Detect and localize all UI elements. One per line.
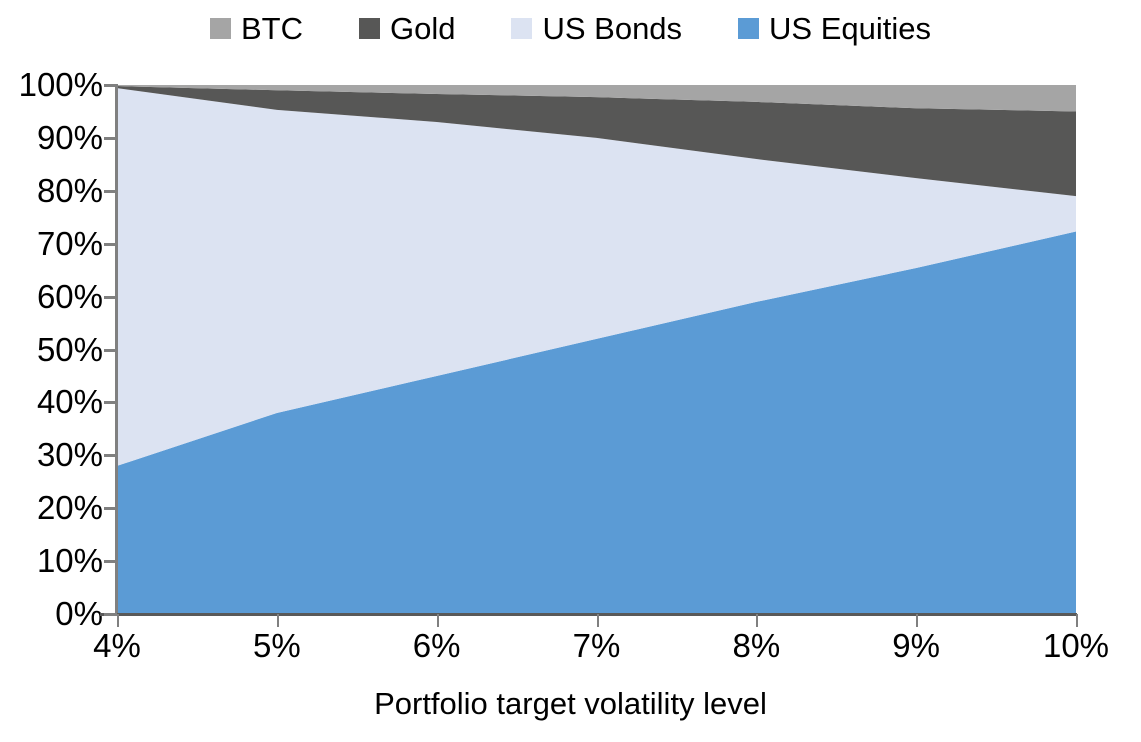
y-tick-mark [104,190,117,193]
x-tick-mark [597,614,599,627]
stacked-area-chart: BTC Gold US Bonds US Equities 100%90%80%… [0,0,1141,742]
legend-swatch-us-equities [738,18,759,39]
legend-swatch-gold [359,18,380,39]
y-tick-mark [104,454,117,457]
x-axis-line [100,613,1077,616]
legend-label-us-equities: US Equities [769,13,931,44]
x-tick-mark [756,614,758,627]
x-tick-mark [437,614,439,627]
plot-svg [117,85,1076,614]
y-tick-label: 0% [0,597,103,630]
y-tick-label: 50% [0,333,103,366]
y-tick-label: 10% [0,544,103,577]
x-tick-mark [1076,614,1078,627]
legend-swatch-us-bonds [511,18,532,39]
legend-label-btc: BTC [241,13,303,44]
x-axis-title: Portfolio target volatility level [0,686,1141,722]
y-tick-label: 90% [0,121,103,154]
y-tick-label: 80% [0,174,103,207]
x-tick-label: 4% [57,627,177,665]
legend-item-us-bonds[interactable]: US Bonds [511,13,682,44]
y-tick-mark [104,296,117,299]
y-tick-mark [104,137,117,140]
x-tick-label: 9% [856,627,976,665]
legend-label-gold: Gold [390,13,455,44]
legend-item-us-equities[interactable]: US Equities [738,13,931,44]
y-tick-label: 60% [0,280,103,313]
x-tick-label: 5% [217,627,337,665]
y-tick-mark [104,401,117,404]
y-tick-label: 30% [0,438,103,471]
x-tick-label: 6% [377,627,497,665]
y-tick-label: 20% [0,491,103,524]
x-tick-mark [117,614,119,627]
legend-label-us-bonds: US Bonds [542,13,682,44]
y-tick-mark [104,613,117,616]
legend-swatch-btc [210,18,231,39]
y-tick-label: 40% [0,385,103,418]
y-tick-mark [104,560,117,563]
chart-legend: BTC Gold US Bonds US Equities [0,6,1141,50]
y-tick-mark [104,507,117,510]
legend-item-btc[interactable]: BTC [210,13,303,44]
legend-item-gold[interactable]: Gold [359,13,455,44]
x-tick-label: 8% [696,627,816,665]
y-tick-mark [104,349,117,352]
plot-area [117,85,1076,614]
y-tick-mark [104,84,117,87]
x-tick-mark [277,614,279,627]
x-tick-label: 7% [537,627,657,665]
x-tick-label: 10% [1016,627,1136,665]
y-tick-mark [104,243,117,246]
x-axis-labels: 4%5%6%7%8%9%10% [0,627,1141,673]
y-tick-label: 100% [0,68,103,101]
y-tick-label: 70% [0,227,103,260]
x-tick-mark [916,614,918,627]
